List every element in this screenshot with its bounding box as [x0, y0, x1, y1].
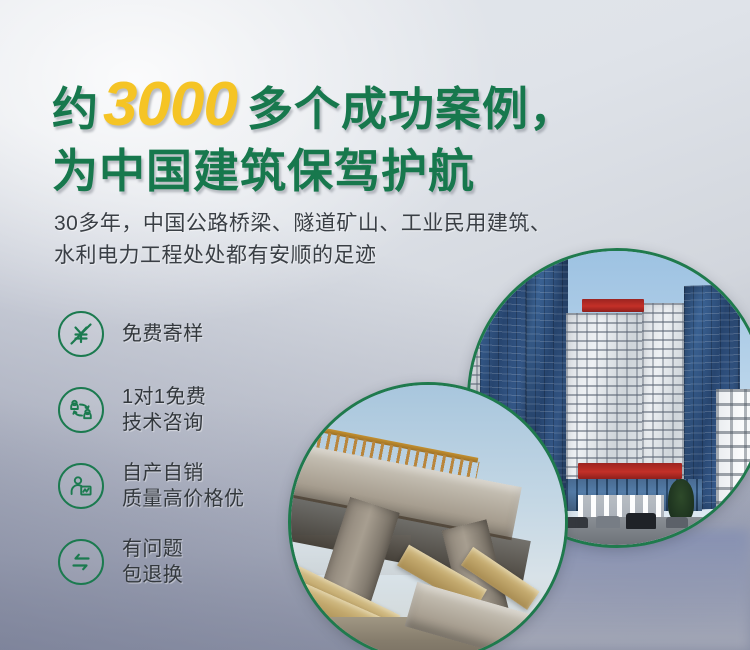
no-fee-yuan-icon: [58, 311, 104, 357]
feature-label-line-1: 1对1免费: [122, 386, 206, 408]
return-exchange-icon: [58, 539, 104, 585]
subtitle-line-1: 30多年，中国公路桥梁、隧道矿山、工业民用建筑、: [54, 208, 704, 240]
white-building-right: [716, 389, 750, 511]
feature-label: 1对1免费 技术咨询: [122, 384, 206, 436]
facade-sign-lower: [578, 463, 682, 479]
self-produce-sell-icon: [58, 463, 104, 509]
feature-label-line-2: 技术咨询: [122, 412, 204, 434]
feature-label-line-1: 免费寄样: [122, 323, 204, 345]
headline-subline: 为中国建筑保驾护航: [52, 148, 475, 194]
feature-label-line-1: 有问题: [122, 538, 183, 560]
headline-line-2: 为中国建筑保驾护航: [52, 148, 692, 194]
feature-label: 免费寄样: [122, 321, 204, 347]
feature-item-free-sample[interactable]: 免费寄样: [58, 296, 358, 372]
car: [666, 517, 688, 528]
bridge-scene: [291, 385, 565, 650]
car: [566, 517, 588, 528]
rooftop-sign-upper: [582, 299, 644, 312]
headline-line-1: 约 3000 多个成功案例，: [52, 74, 692, 136]
bridge-photo: [288, 382, 568, 650]
feature-label-line-1: 自产自销: [122, 462, 204, 484]
car: [596, 516, 620, 528]
feature-label-line-2: 包退换: [122, 564, 183, 586]
headline-prefix: 约: [52, 86, 99, 132]
one-on-one-consult-icon: [58, 387, 104, 433]
feature-label: 有问题 包退换: [122, 536, 183, 588]
headline-number: 3000: [103, 74, 237, 136]
car: [626, 513, 656, 529]
feature-label: 自产自销 质量高价格优: [122, 460, 244, 512]
feature-label-line-2: 质量高价格优: [122, 488, 244, 510]
promo-banner: 约 3000 多个成功案例， 为中国建筑保驾护航 30多年，中国公路桥梁、隧道矿…: [0, 0, 750, 650]
headline-suffix: 多个成功案例，: [247, 86, 576, 132]
headline: 约 3000 多个成功案例， 为中国建筑保驾护航: [52, 74, 692, 194]
